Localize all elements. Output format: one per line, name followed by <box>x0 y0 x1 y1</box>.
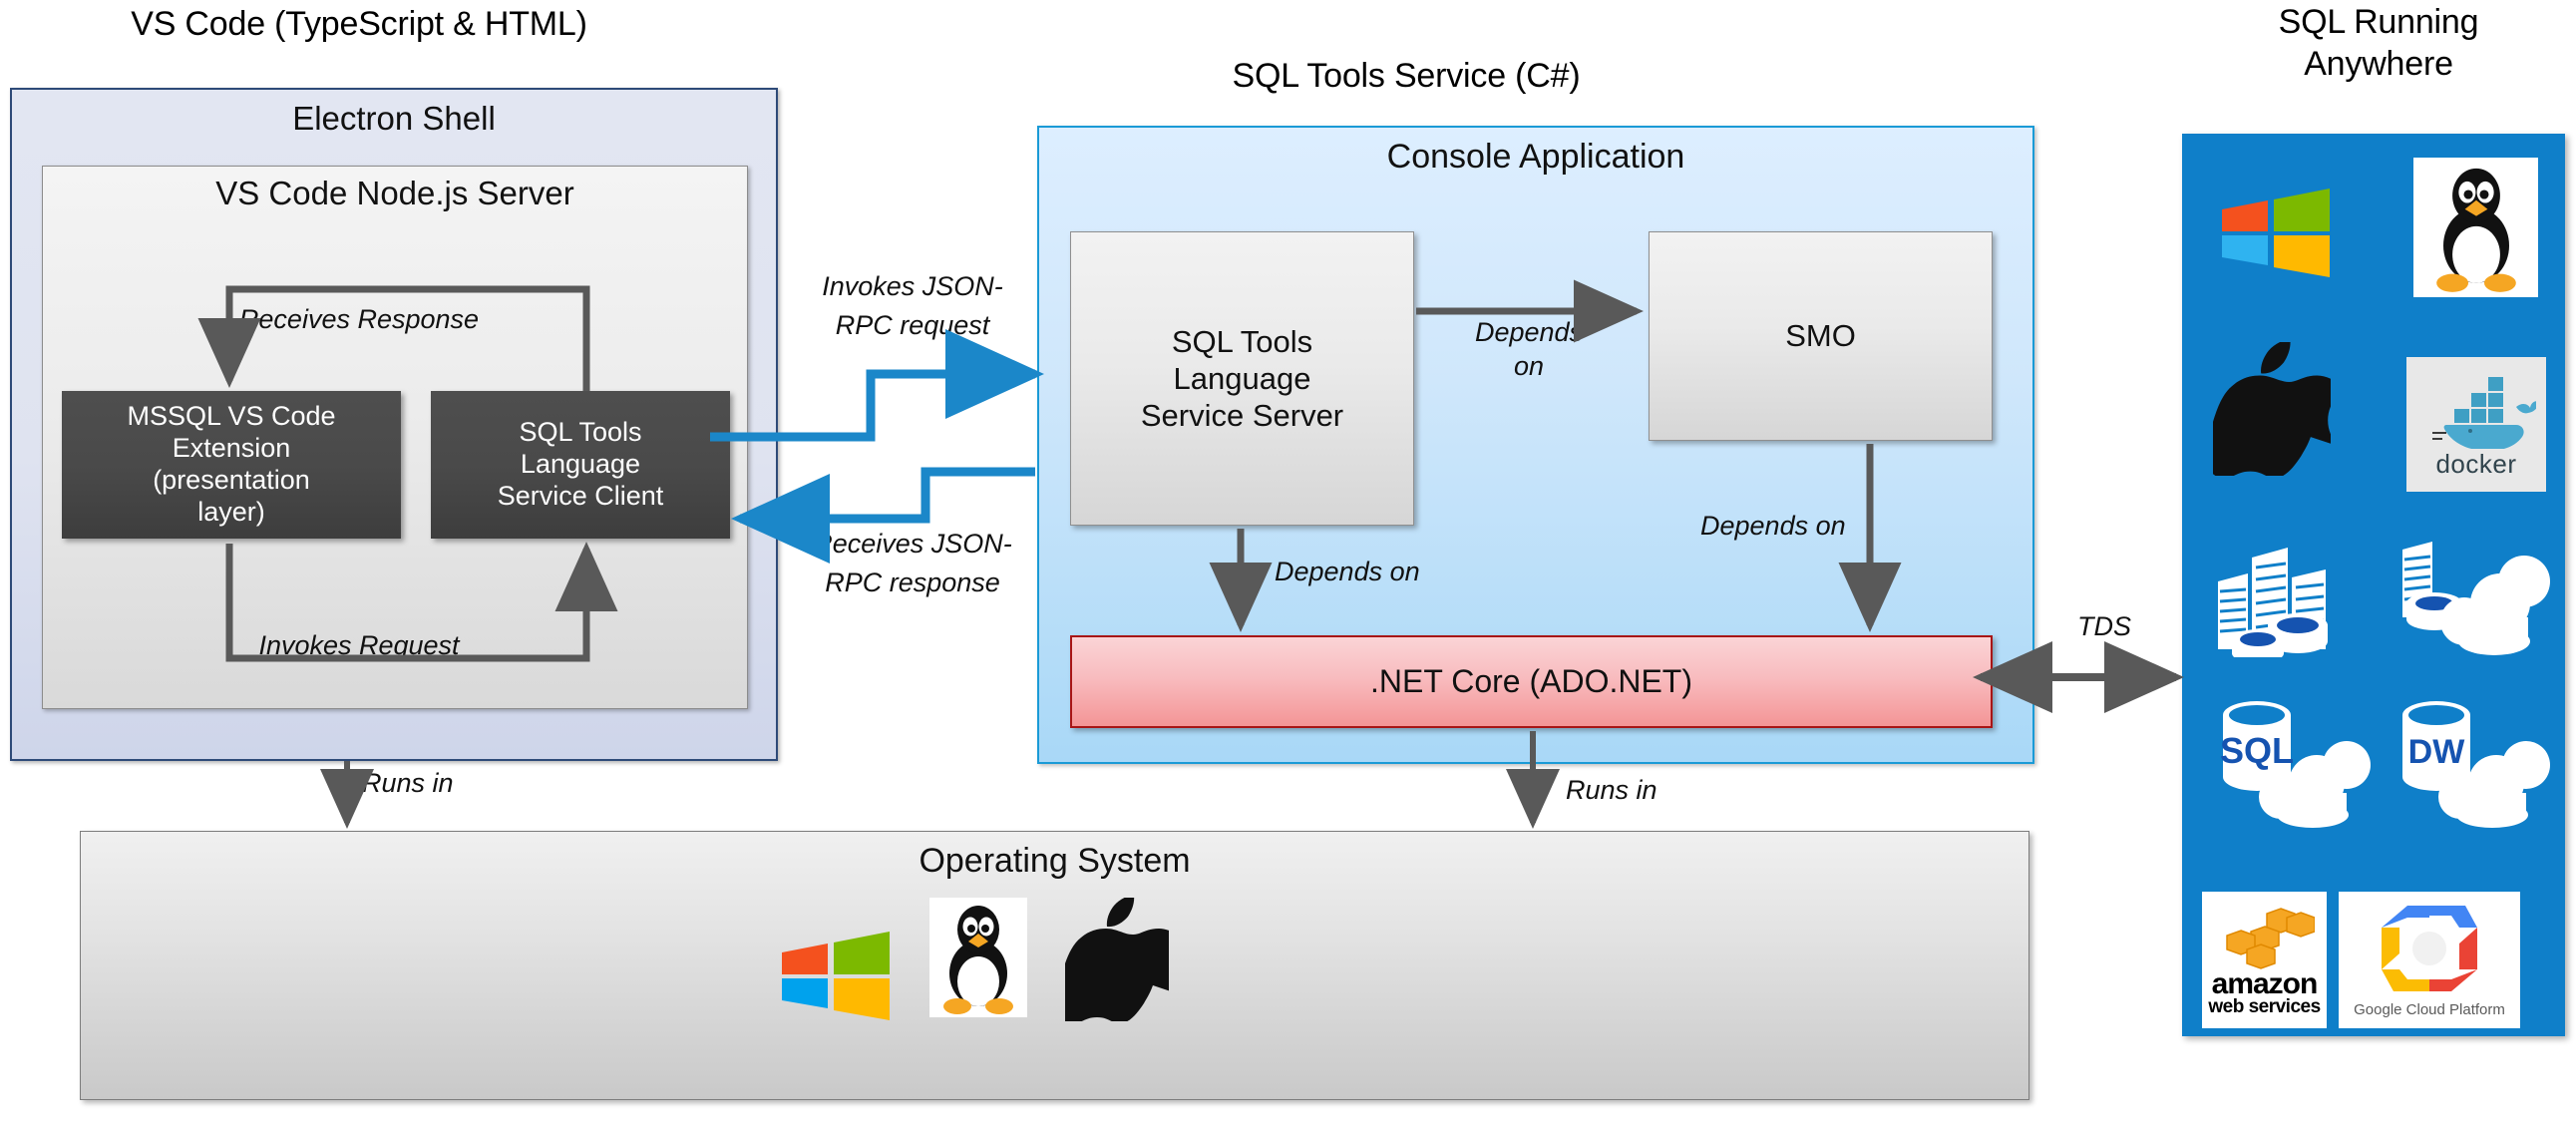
gcp-label: Google Cloud Platform <box>2354 1001 2505 1018</box>
svg-text:DW: DW <box>2408 733 2466 771</box>
invokes-json-rpc-label-line1: Invokes JSON- <box>788 271 1037 302</box>
diagram-canvas: VS Code (TypeScript & HTML) SQL Tools Se… <box>0 0 2576 1134</box>
extension-line-4: layer) <box>197 497 265 529</box>
azure-sql-database-icon: SQL <box>2204 690 2382 830</box>
client-line-1: SQL Tools <box>519 417 641 449</box>
vscode-runs-in-label: Runs in <box>362 768 601 799</box>
sql-tools-language-service-server-box[interactable]: SQL Tools Language Service Server <box>1070 231 1414 526</box>
docker-label: docker <box>2435 449 2516 480</box>
windows-icon <box>2216 180 2336 279</box>
depends-on-smo-label-line2: on <box>1434 351 1624 382</box>
vscode-node-server-title: VS Code Node.js Server <box>43 167 747 212</box>
azure-sql-data-warehouse-icon: DW <box>2384 690 2561 830</box>
server-line-2: Language <box>1174 360 1311 397</box>
client-line-3: Service Client <box>498 481 664 513</box>
apple-icon <box>1062 896 1172 1023</box>
receives-json-rpc-label-line2: RPC response <box>788 567 1037 598</box>
mssql-vscode-extension-box[interactable]: MSSQL VS Code Extension (presentation la… <box>62 391 401 539</box>
aws-label-line2: web services <box>2208 997 2320 1016</box>
invokes-json-rpc-label-line2: RPC request <box>788 310 1037 341</box>
extension-line-3: (presentation <box>153 465 310 497</box>
server-line-1: SQL Tools <box>1172 323 1312 360</box>
vscode-caption: VS Code (TypeScript & HTML) <box>40 4 678 44</box>
sql-tools-service-caption: SQL Tools Service (C#) <box>997 56 1815 96</box>
arrow-receives-json-rpc-response <box>740 472 1035 519</box>
console-application-title: Console Application <box>1039 128 2032 177</box>
sql-running-anywhere-caption-line2: Anywhere <box>2184 44 2573 84</box>
aws-label-line1: amazon <box>2212 970 2318 997</box>
windows-icon <box>776 920 896 1024</box>
depends-on-netcore-label: Depends on <box>1275 557 1554 587</box>
private-cloud-database-icon <box>2384 529 2553 658</box>
apple-icon <box>2210 339 2334 479</box>
linux-tux-icon <box>2413 158 2538 297</box>
depends-on-netcore-label-2: Depends on <box>1700 511 1980 542</box>
amazon-web-services-icon: amazon web services <box>2202 892 2327 1028</box>
operating-system-panel: Operating System <box>80 831 2029 1100</box>
docker-icon: docker <box>2406 357 2546 492</box>
tds-label: TDS <box>2034 611 2174 642</box>
smo-label: SMO <box>1785 317 1856 354</box>
datacenter-database-icon <box>2209 529 2359 658</box>
extension-line-1: MSSQL VS Code <box>127 401 335 433</box>
extension-line-2: Extension <box>173 433 291 465</box>
receives-response-label: Receives Response <box>199 304 519 335</box>
sql-running-anywhere-caption-line1: SQL Running <box>2184 2 2573 42</box>
server-line-3: Service Server <box>1141 397 1343 434</box>
operating-system-title: Operating System <box>81 832 2028 881</box>
electron-shell-title: Electron Shell <box>12 90 776 138</box>
invokes-request-label: Invokes Request <box>199 630 519 661</box>
svg-text:SQL: SQL <box>2220 730 2294 771</box>
dotnet-core-label: .NET Core (ADO.NET) <box>1370 663 1692 700</box>
dotnet-core-ado-net-box[interactable]: .NET Core (ADO.NET) <box>1070 635 1993 728</box>
depends-on-smo-label-line1: Depends <box>1434 317 1624 348</box>
receives-json-rpc-label-line1: Receives JSON- <box>788 529 1037 560</box>
client-line-2: Language <box>521 449 640 481</box>
sql-tools-language-service-client-box[interactable]: SQL Tools Language Service Client <box>431 391 730 539</box>
service-runs-in-label: Runs in <box>1566 775 1805 806</box>
linux-tux-icon <box>929 898 1027 1017</box>
google-cloud-platform-icon: Google Cloud Platform <box>2339 892 2520 1028</box>
smo-box[interactable]: SMO <box>1649 231 1993 441</box>
